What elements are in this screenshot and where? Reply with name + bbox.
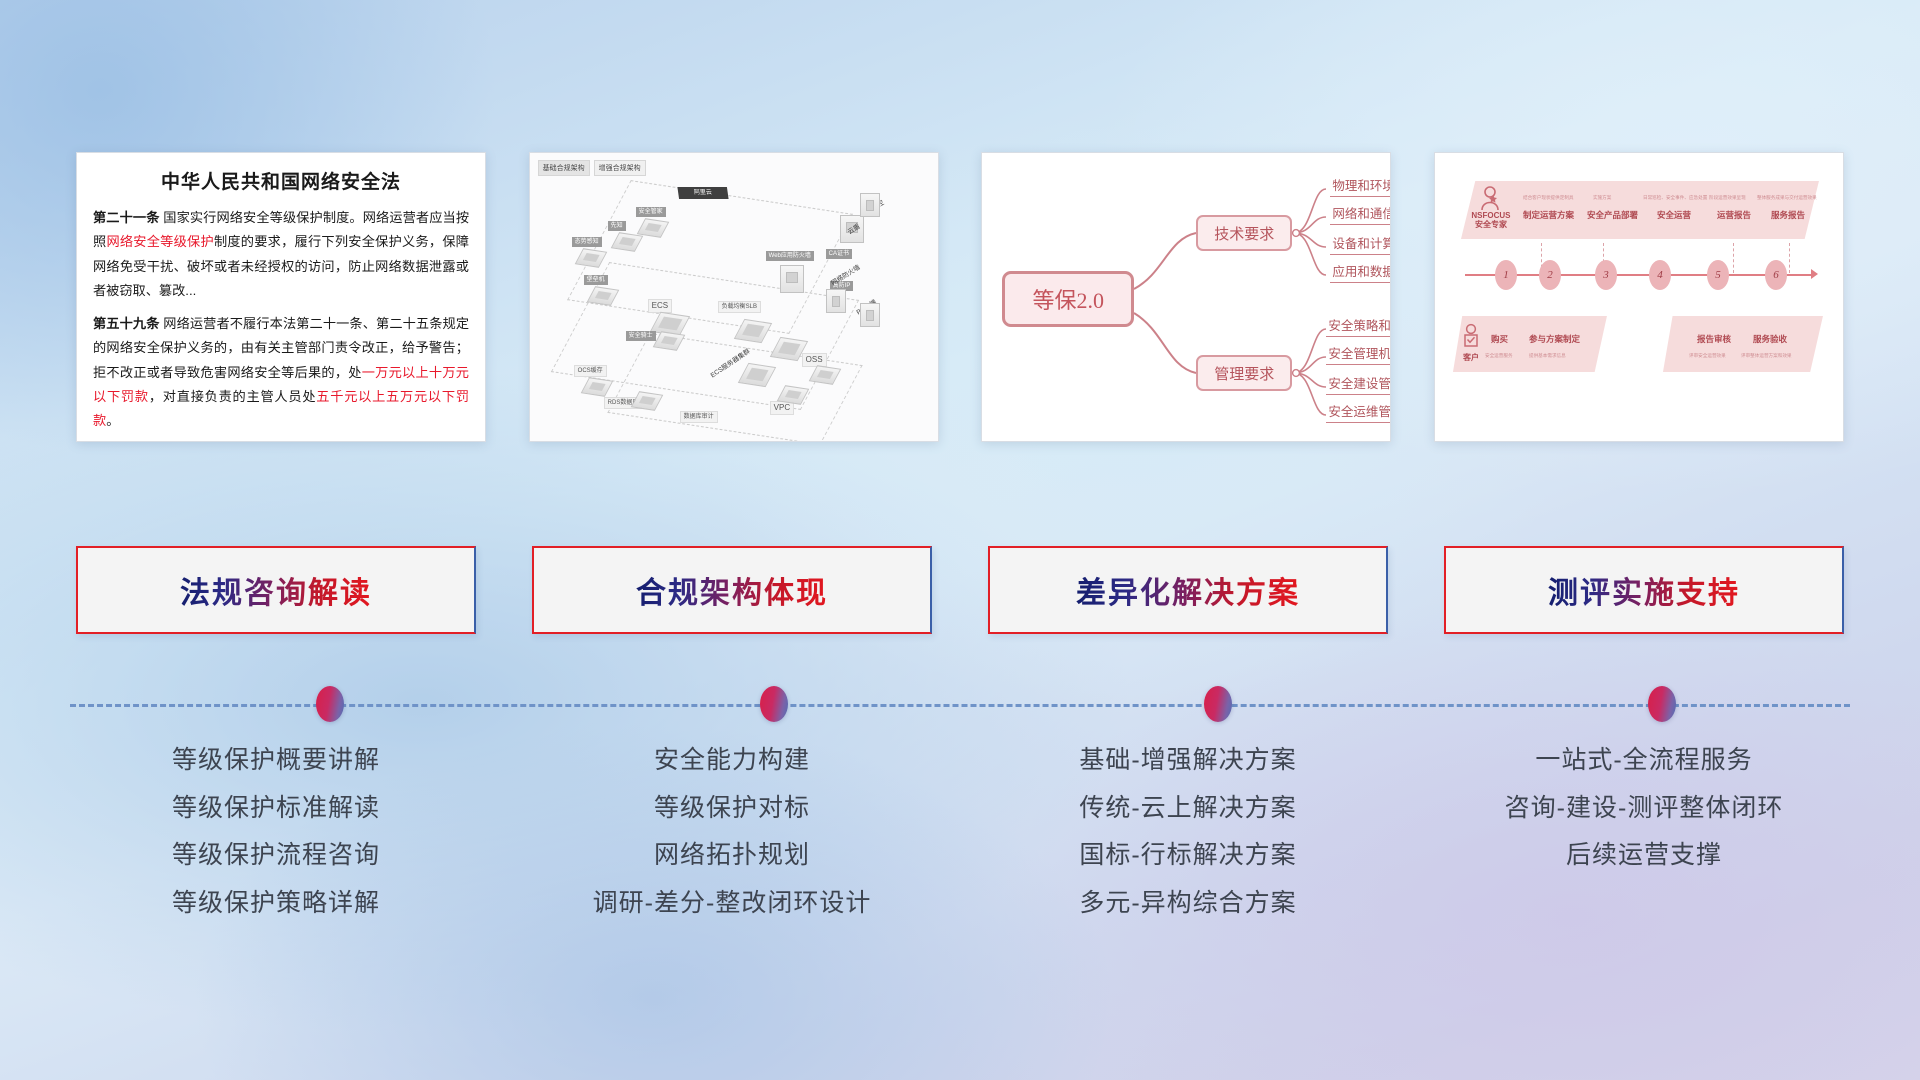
law-article-21-label: 第二十一条 [93,210,160,225]
flow-provider-name: NSFOCUS [1471,211,1510,220]
list-item: 安全能力构建 [654,740,810,781]
law-article-21-highlight: 网络安全等级保护 [106,234,214,249]
law-article-59-text-2: ，对直接负责的主管人员处 [149,389,316,404]
architecture-tab-enhanced[interactable]: 增强合规架构 [594,160,646,176]
flow-bottom-title-2: 参与方案制定 [1529,335,1580,345]
flow-top-title-1: 制定运营方案 [1523,211,1574,221]
law-article-59-text-3: 。 [106,413,119,428]
flow-top-title-4: 运营报告 [1717,211,1751,221]
flow-step-node-5: 5 [1707,260,1729,290]
mindmap-branch-management: 管理要求 [1196,355,1292,391]
section-title-box-architecture[interactable]: 合规架构体现 [532,546,932,634]
law-document: 中华人民共和国网络安全法 第二十一条 国家实行网络安全等级保护制度。网络运营者应… [77,153,485,442]
detail-list-solution: 基础-增强解决方案 传统-云上解决方案 国标-行标解决方案 多元-异构综合方案 [988,740,1388,923]
flow-step-node-2: 2 [1539,260,1561,290]
mindmap-branch-technical: 技术要求 [1196,215,1292,251]
detail-list-assessment: 一站式-全流程服务 咨询-建设-测评整体闭环 后续运营支撑 [1444,740,1844,923]
timeline-dot-4 [1648,686,1676,722]
list-item: 咨询-建设-测评整体闭环 [1505,788,1784,829]
architecture-node-oss: OSS [802,353,827,367]
architecture-cloud-tag: 阿里云 [677,187,728,199]
flow-provider-role: 安全专家 [1475,220,1507,229]
card-compliance-architecture: 基础合规架构 增强合规架构 阿里云 安全管家 先知 态势感知 堡垒机 ECS 安… [529,152,939,442]
flow-bottom-sub-1: 安全运营服务 [1485,353,1513,359]
architecture-node-ocs-cache: OCS缓存 [574,365,607,377]
list-item: 等级保护标准解读 [172,788,380,829]
timeline-dot-1 [316,686,344,722]
illustration-card-row: 中华人民共和国网络安全法 第二十一条 国家实行网络安全等级保护制度。网络运营者应… [76,152,1844,447]
flow-bottom-sub-4: 评审整体运营方案和效果 [1741,353,1792,359]
architecture-node-db-audit: 数据库审计 [680,411,718,423]
list-item: 国标-行标解决方案 [1079,835,1296,876]
mindmap-leaf-operation-maintenance: 安全运维管理 [1326,401,1391,423]
mindmap-leaf-policy-system: 安全策略和管理制度 [1326,315,1391,337]
list-item: 等级保护策略详解 [172,883,380,924]
mindmap-leaf-network-communication: 网络和通信安全 [1330,203,1391,225]
mindmap: 等保2.0 技术要求 物理和环境安全 网络和通信安全 设备和计算安全 应用和数据… [982,153,1390,441]
card-dengbao-mindmap: 等保2.0 技术要求 物理和环境安全 网络和通信安全 设备和计算安全 应用和数据… [981,152,1391,442]
flow-tick-5 [1733,243,1734,273]
architecture-node-ca-cert: CA证书 [826,249,852,259]
timeline-dot-3 [1204,686,1232,722]
mindmap-leaf-construction-management: 安全建设管理 [1326,373,1391,395]
flow-top-sub-1: 结合客户现状提供定制具 [1523,195,1574,201]
list-item: 传统-云上解决方案 [1079,788,1296,829]
flow-step-node-6: 6 [1765,260,1787,290]
flow-provider-band [1461,181,1819,239]
architecture-tabs: 基础合规架构 增强合规架构 [538,160,646,176]
detail-list-architecture: 安全能力构建 等级保护对标 网络拓扑规划 调研-差分-整改闭环设计 [532,740,932,923]
flow-top-title-2: 安全产品部署 [1587,211,1638,221]
list-item: 网络拓扑规划 [654,835,810,876]
mindmap-leaf-org-personnel: 安全管理机构和人员 [1326,343,1391,365]
law-article-59-label: 第五十九条 [93,316,160,331]
architecture-node-waf: Web应用防火墙 [766,251,814,261]
list-item: 等级保护概要讲解 [172,740,380,781]
architecture-icon-cloud-shield [860,193,880,217]
flow-top-sub-5: 整体服务成果与交付运营效果 [1757,195,1817,201]
flow-tick-6 [1789,243,1790,273]
architecture-node-bastion-host: 堡垒机 [584,275,608,285]
architecture-icon-waf [780,265,804,293]
list-item: 后续运营支撑 [1566,835,1722,876]
architecture-tab-basic[interactable]: 基础合规架构 [538,160,590,176]
flow-step-node-3: 3 [1595,260,1617,290]
law-article-21: 第二十一条 国家实行网络安全等级保护制度。网络运营者应当按照网络安全等级保护制度… [93,206,469,304]
architecture-icon-network-firewall [826,289,846,313]
architecture-icon-pc-terminal [860,303,880,327]
section-title-box-solution[interactable]: 差异化解决方案 [988,546,1388,634]
architecture-node-situational-awareness: 态势感知 [572,237,602,247]
section-title-box-regulation[interactable]: 法规咨询解读 [76,546,476,634]
flow-bottom-title-3: 报告审核 [1697,335,1731,345]
list-item: 基础-增强解决方案 [1079,740,1296,781]
flow-bottom-title-4: 服务验收 [1753,335,1787,345]
flow-bottom-sub-3: 评审安全运营效果 [1689,353,1726,359]
mindmap-leaf-device-computing: 设备和计算安全 [1330,233,1391,255]
card-service-flow: NSFOCUS 安全专家 结合客户现状提供定制具 制定运营方案 实施方案 安全产… [1434,152,1844,442]
flow-customer-band-right [1663,316,1823,372]
flow-bottom-sub-2: 提供基本需求信息 [1529,353,1566,359]
architecture-node-slb: 负载均衡SLB [718,301,761,313]
section-timeline [70,686,1850,726]
list-item: 多元-异构综合方案 [1079,883,1296,924]
section-title-label-regulation: 法规咨询解读 [180,568,372,612]
mindmap-root-node: 等保2.0 [1002,271,1134,327]
section-title-label-solution: 差异化解决方案 [1076,568,1300,612]
section-title-label-architecture: 合规架构体现 [636,568,828,612]
flow-bottom-title-1: 购买 [1491,335,1508,345]
law-title: 中华人民共和国网络安全法 [93,167,469,194]
flow-timeline-axis [1465,274,1813,276]
detail-list-regulation: 等级保护概要讲解 等级保护标准解读 等级保护流程咨询 等级保护策略详解 [76,740,476,923]
mindmap-leaf-physical-environment: 物理和环境安全 [1330,175,1391,197]
flow-customer-label: 客户 [1461,353,1481,362]
section-title-row: 法规咨询解读 合规架构体现 差异化解决方案 测评实施支持 [76,546,1844,634]
section-title-label-assessment: 测评实施支持 [1548,568,1740,612]
flow-top-sub-2: 实施方案 [1593,195,1611,201]
architecture-node-security-butler: 安全管家 [636,207,666,217]
section-detail-lists: 等级保护概要讲解 等级保护标准解读 等级保护流程咨询 等级保护策略详解 安全能力… [76,740,1844,923]
architecture-node-xianzhi: 先知 [608,221,626,231]
flow-provider-label: NSFOCUS 安全专家 [1463,211,1519,229]
flow-top-sub-4: 阶段运营效果呈现 [1709,195,1746,201]
expert-person-icon [1479,185,1501,211]
list-item: 一站式-全流程服务 [1535,740,1752,781]
list-item: 等级保护流程咨询 [172,835,380,876]
service-flow-diagram: NSFOCUS 安全专家 结合客户现状提供定制具 制定运营方案 实施方案 安全产… [1435,153,1843,441]
flow-step-node-4: 4 [1649,260,1671,290]
section-title-box-assessment[interactable]: 测评实施支持 [1444,546,1844,634]
flow-top-sub-3: 日常巡检、安全事件、应急处置 [1643,195,1707,201]
flow-step-node-1: 1 [1495,260,1517,290]
list-item: 调研-差分-整改闭环设计 [593,883,872,924]
timeline-dot-2 [760,686,788,722]
law-article-59: 第五十九条 网络运营者不履行本法第二十一条、第二十五条规定的网络安全保护义务的，… [93,312,469,434]
architecture-node-security-knight: 安全骑士 [626,331,656,341]
flow-top-title-5: 服务报告 [1771,211,1805,221]
list-item: 等级保护对标 [654,788,810,829]
card-cybersecurity-law: 中华人民共和国网络安全法 第二十一条 国家实行网络安全等级保护制度。网络运营者应… [76,152,486,442]
architecture-icon-ocs-cache [580,377,613,397]
customer-person-icon [1461,323,1481,349]
flow-timeline-arrow-icon [1811,269,1818,279]
flow-top-title-3: 安全运营 [1657,211,1691,221]
architecture-diagram: 基础合规架构 增强合规架构 阿里云 安全管家 先知 态势感知 堡垒机 ECS 安… [530,153,938,441]
mindmap-leaf-application-data: 应用和数据安全 [1330,261,1391,283]
